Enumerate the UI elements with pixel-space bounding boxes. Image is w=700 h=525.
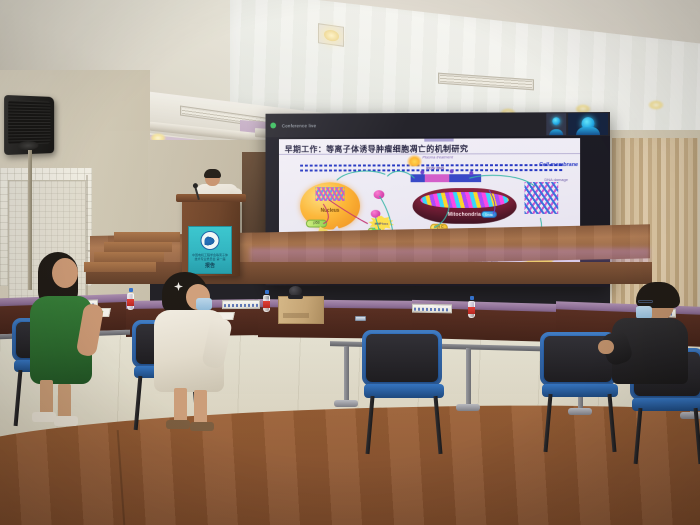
lectern-sign-panel: 中国电机工程学会等离子体技术专业委员会 第一届 报告 [188,226,232,274]
attendee1-head [52,258,78,288]
attendee-green-dress [24,252,108,427]
ceiling-spotlight-box [318,23,344,47]
conference-room-scene: Conference live End Members 早期工作：等离子体诱导肿… [0,0,700,525]
attendee2-shoe-1 [166,420,190,429]
attendee2-shoe-2 [190,422,214,431]
participant-thumb-secondary[interactable] [546,113,566,135]
attendee2-face-mask-icon [196,298,212,310]
attendee1-leg-2 [58,384,71,420]
attendee2-leg-2 [194,390,207,424]
attendee3-glasses-icon [638,300,653,303]
presenter-hair [204,169,221,178]
attendee3-hair [636,282,680,308]
water-bottle-2[interactable] [263,290,270,312]
organization-logo-icon [201,231,220,250]
lectern-sign-name: 报告 [189,262,231,269]
participant-thumb-main[interactable] [568,113,608,135]
attendee-white-top [152,272,242,432]
lectern-sign-text: 中国电机工程学会等离子体技术专业委员会 第一届 [192,253,228,262]
attendee-black-shirt [604,282,694,422]
water-bottle-3[interactable] [468,296,475,318]
attendee3-hand [598,340,614,354]
nameplate-3 [412,304,452,314]
chair-center[interactable] [362,330,448,440]
video-camera-icon[interactable] [288,286,303,299]
recording-indicator-icon [270,123,276,129]
mobile-phone[interactable] [355,316,366,321]
attendee2-leg-1 [174,388,187,424]
table-foot-1 [334,400,358,407]
vc-status-label: Conference live [282,123,316,128]
attendee1-shoe-1 [32,412,56,422]
attendee1-shoe-2 [54,416,78,426]
ceiling-downlight-11 [648,100,664,110]
table-foot-2 [456,404,480,411]
water-bottle-1[interactable] [127,288,134,310]
table-leg-2 [466,348,471,406]
wall-speaker-icon [4,95,54,155]
cardboard-box [278,296,324,324]
participant-thumbnails[interactable] [546,113,608,135]
table-leg-1 [344,346,349,402]
lectern-top [176,194,246,202]
